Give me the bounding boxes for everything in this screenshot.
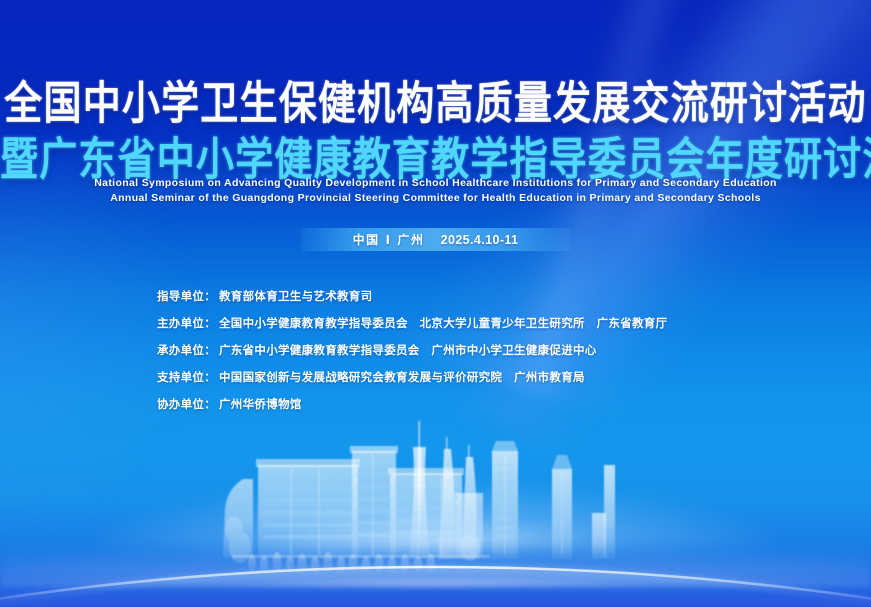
organization-label: 协办单位： — [157, 396, 216, 412]
conference-poster: 全国中小学卫生保健机构高质量发展交流研讨活动 暨广东省中小学健康教育教学指导委员… — [0, 0, 871, 607]
organization-label: 支持单位： — [157, 369, 216, 385]
badge-date: 2025.4.10-11 — [441, 233, 519, 247]
organization-row-guidance: 指导单位： 教育部体育卫生与艺术教育司 — [157, 288, 797, 304]
organization-value: 教育部体育卫生与艺术教育司 — [219, 288, 372, 304]
poster-title-block: 全国中小学卫生保健机构高质量发展交流研讨活动 暨广东省中小学健康教育教学指导委员… — [0, 76, 871, 178]
organization-value: 全国中小学健康教育教学指导委员会 北京大学儿童青少年卫生研究所 广东省教育厅 — [219, 315, 667, 331]
location-date-badge: 中国 I 广州 2025.4.10-11 — [301, 228, 571, 251]
subtitle-english-line-2: Annual Seminar of the Guangdong Provinci… — [0, 191, 871, 206]
organization-row-organizer: 承办单位： 广东省中小学健康教育教学指导委员会 广州市中小学卫生健康促进中心 — [157, 342, 797, 358]
organization-value: 广州华侨博物馆 — [219, 396, 302, 412]
organization-row-supporter: 支持单位： 中国国家创新与发展战略研究会教育发展与评价研究院 广州市教育局 — [157, 369, 797, 385]
badge-location: 中国 I 广州 — [353, 231, 425, 248]
organization-label: 承办单位： — [157, 342, 216, 358]
organization-value: 中国国家创新与发展战略研究会教育发展与评价研究院 广州市教育局 — [219, 369, 585, 385]
subtitle-english-line-1: National Symposium on Advancing Quality … — [0, 176, 871, 191]
organization-row-host: 主办单位： 全国中小学健康教育教学指导委员会 北京大学儿童青少年卫生研究所 广东… — [157, 315, 797, 331]
organization-label: 主办单位： — [157, 315, 216, 331]
poster-title-line-1: 全国中小学卫生保健机构高质量发展交流研讨活动 — [0, 76, 871, 130]
organization-value: 广东省中小学健康教育教学指导委员会 广州市中小学卫生健康促进中心 — [219, 342, 597, 358]
poster-subtitle-english: National Symposium on Advancing Quality … — [0, 176, 871, 205]
organization-list: 指导单位： 教育部体育卫生与艺术教育司 主办单位： 全国中小学健康教育教学指导委… — [157, 288, 797, 423]
organization-row-coorganizer: 协办单位： 广州华侨博物馆 — [157, 396, 797, 412]
organization-label: 指导单位： — [157, 288, 216, 304]
